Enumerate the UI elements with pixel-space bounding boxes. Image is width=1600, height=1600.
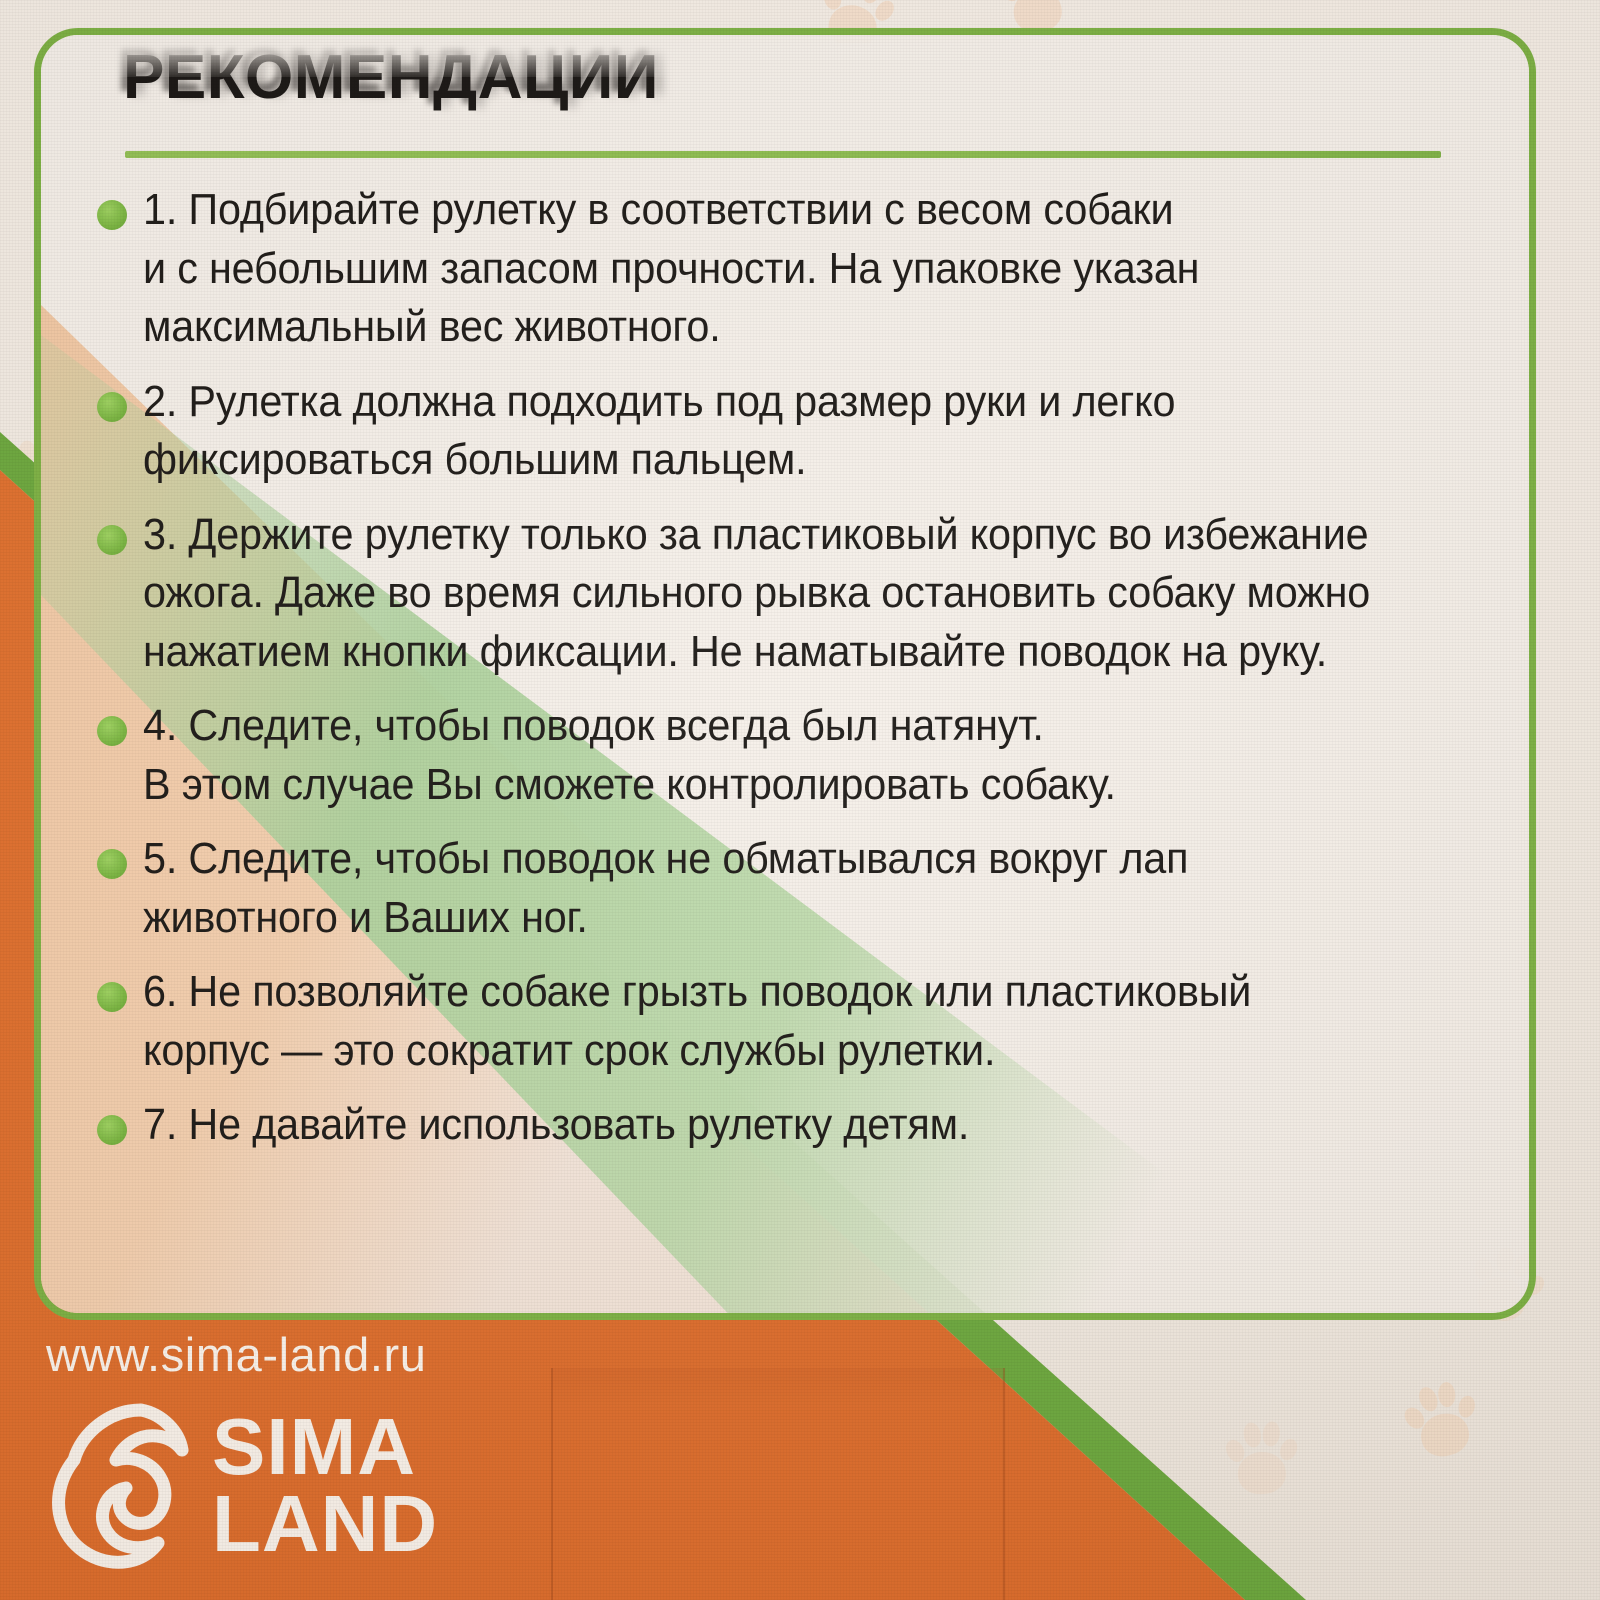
carton-flap-crease xyxy=(551,1368,1005,1600)
list-item: 4. Следите, чтобы поводок всегда был нат… xyxy=(97,697,1507,814)
recommendations-card: РЕКОМЕНДАЦИИ РЕКОМЕНДАЦИИ РЕКОМЕНДАЦИИ 1… xyxy=(34,28,1536,1320)
list-item: 3. Держите рулетку только за пластиковый… xyxy=(97,506,1507,682)
bullet-dot-icon xyxy=(97,392,127,422)
bullet-dot-icon xyxy=(97,200,127,230)
bullet-dot-icon xyxy=(97,849,127,879)
list-item: 1. Подбирайте рулетку в соответствии с в… xyxy=(97,181,1507,357)
brand-line-2: LAND xyxy=(212,1486,438,1563)
bullet-dot-icon xyxy=(97,525,127,555)
list-item-text: 3. Держите рулетку только за пластиковый… xyxy=(143,506,1425,682)
bullet-dot-icon xyxy=(97,982,127,1012)
brand-line-1: SIMA xyxy=(212,1409,438,1486)
list-item-text: 4. Следите, чтобы поводок всегда был нат… xyxy=(143,697,1425,814)
list-item: 6. Не позволяйте собаке грызть поводок и… xyxy=(97,963,1507,1080)
title-divider xyxy=(125,151,1441,158)
list-item: 7. Не давайте использовать рулетку детям… xyxy=(97,1096,1507,1155)
sima-land-dolphin-icon xyxy=(48,1400,190,1572)
list-item-text: 1. Подбирайте рулетку в соответствии с в… xyxy=(143,181,1425,357)
list-item-text: 5. Следите, чтобы поводок не обматывался… xyxy=(143,830,1425,947)
page-title-text: РЕКОМЕНДАЦИИ xyxy=(123,47,659,109)
bullet-dot-icon xyxy=(97,716,127,746)
list-item-text: 7. Не давайте использовать рулетку детям… xyxy=(143,1096,1425,1155)
recommendations-list: 1. Подбирайте рулетку в соответствии с в… xyxy=(97,181,1507,1171)
website-url: www.sima-land.ru xyxy=(46,1327,426,1382)
list-item-text: 6. Не позволяйте собаке грызть поводок и… xyxy=(143,963,1425,1080)
list-item: 5. Следите, чтобы поводок не обматывался… xyxy=(97,830,1507,947)
brand-wordmark: SIMA LAND xyxy=(212,1409,438,1563)
bullet-dot-icon xyxy=(97,1115,127,1145)
brand-logo: SIMA LAND xyxy=(48,1400,438,1572)
list-item-text: 2. Рулетка должна подходить под размер р… xyxy=(143,373,1425,490)
page-title: РЕКОМЕНДАЦИИ РЕКОМЕНДАЦИИ РЕКОМЕНДАЦИИ xyxy=(123,47,1443,139)
list-item: 2. Рулетка должна подходить под размер р… xyxy=(97,373,1507,490)
package-photo: РЕКОМЕНДАЦИИ РЕКОМЕНДАЦИИ РЕКОМЕНДАЦИИ 1… xyxy=(0,0,1600,1600)
